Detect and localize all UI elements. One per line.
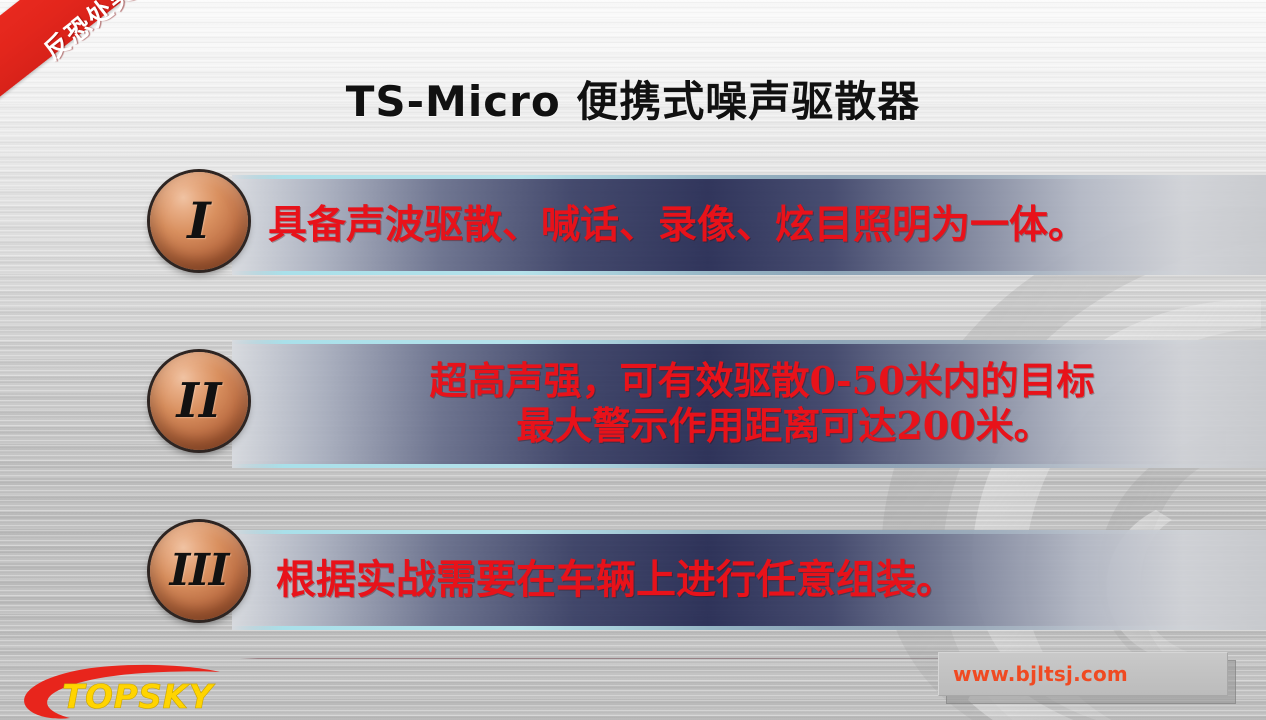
feature-text: 根据实战需要在车辆上进行任意组装。: [276, 530, 1262, 630]
badge-numeral: I: [187, 196, 210, 246]
url-box-plate: www.bjltsj.com: [938, 652, 1228, 696]
page-title: TS-Micro 便携式噪声驱散器: [0, 68, 1266, 129]
topsky-logo: TOPSKY: [14, 664, 244, 720]
feature-text: 具备声波驱散、喊话、录像、炫目照明为一体。: [268, 175, 1262, 275]
feature-text-line: 最大警示作用距离可达200米。: [472, 404, 1051, 449]
badge-numeral: II: [177, 377, 222, 425]
feature-badge-2: II: [150, 352, 248, 450]
feature-text: 超高声强，可有效驱散0-50米内的目标 最大警示作用距离可达200米。: [262, 340, 1262, 468]
website-url-box[interactable]: www.bjltsj.com: [938, 652, 1234, 702]
slide-canvas: 反恐处突 TS-Micro 便携式噪声驱散器 具备声波驱散、喊话、录像、炫目照明…: [0, 0, 1266, 720]
badge-numeral: III: [170, 549, 229, 593]
website-url-text[interactable]: www.bjltsj.com: [939, 662, 1128, 686]
feature-badge-3: III: [150, 522, 248, 620]
feature-badge-1: I: [150, 172, 248, 270]
topsky-logo-text: TOPSKY: [62, 677, 216, 716]
feature-text-line: 根据实战需要在车辆上进行任意组装。: [276, 556, 1262, 603]
feature-text-line: 具备声波驱散、喊话、录像、炫目照明为一体。: [268, 202, 1262, 248]
feature-text-line: 超高声强，可有效驱散0-50米内的目标: [429, 359, 1094, 404]
